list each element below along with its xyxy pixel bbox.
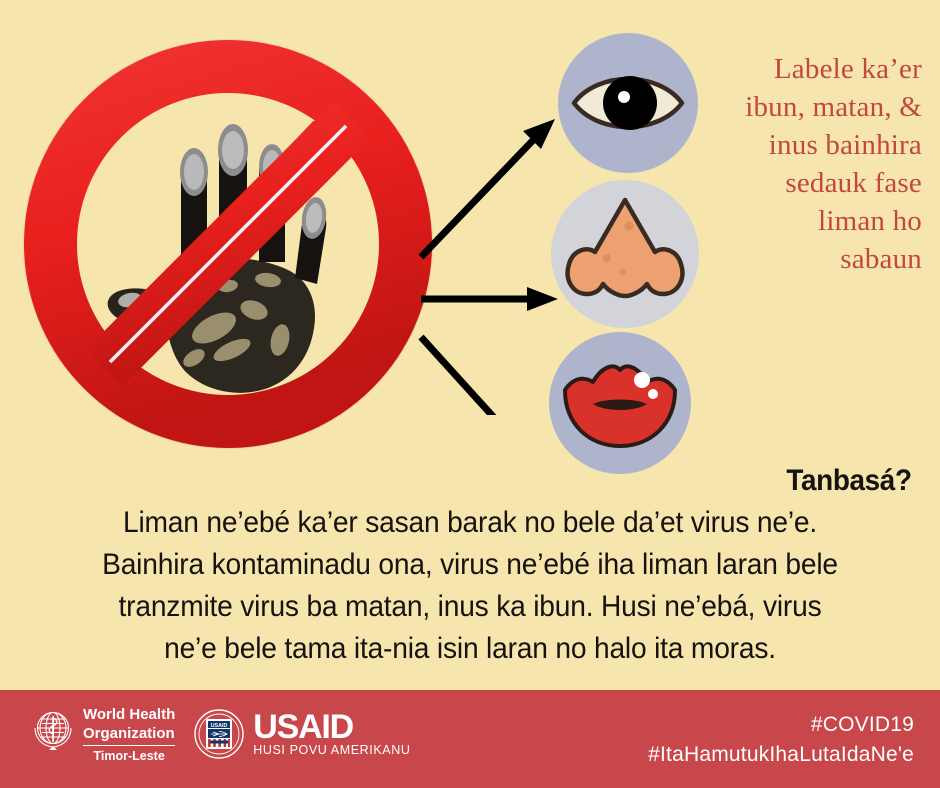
usaid-logo: USAID — [193, 708, 410, 760]
body-line-2: Bainhira kontaminadu ona, virus ne’ebé i… — [46, 544, 894, 586]
headline-text: Labele ka’er ibun, matan, & inus bainhir… — [654, 50, 922, 278]
headline-line-4: sedauk fase — [654, 164, 922, 202]
who-line-2: Organization — [83, 723, 175, 742]
logo-row: World Health Organization Timor-Leste US… — [30, 704, 411, 763]
who-line-1: World Health — [83, 704, 175, 723]
body-line-4: ne’e bele tama ita-nia isin laran no hal… — [46, 628, 894, 670]
headline-line-3: inus bainhira — [654, 126, 922, 164]
who-emblem-icon — [30, 704, 76, 756]
no-touching-sign — [18, 28, 438, 460]
hashtag-block: #COVID19 #ItaHamutukIhaLutaIdaNe'e — [648, 710, 914, 770]
arrow-to-eye — [421, 133, 540, 257]
svg-text:USAID: USAID — [211, 722, 228, 728]
hashtag-campaign: #ItaHamutukIhaLutaIdaNe'e — [648, 740, 914, 770]
headline-line-5: liman ho — [654, 202, 922, 240]
mouth-lips-icon — [549, 332, 691, 474]
why-heading: Tanbasá? — [787, 464, 912, 498]
poster-canvas: Labele ka’er ibun, matan, & inus bainhir… — [0, 0, 940, 788]
usaid-wordmark: USAID — [253, 711, 410, 743]
body-line-3: tranzmite virus ba matan, inus ka ibun. … — [46, 586, 894, 628]
mouth-icon-circle — [549, 332, 691, 474]
prohibition-sign-graphic — [18, 28, 438, 460]
hashtag-covid19: #COVID19 — [648, 710, 914, 740]
body-line-1: Liman ne’ebé ka’er sasan barak no bele d… — [46, 502, 894, 544]
headline-line-2: ibun, matan, & — [654, 88, 922, 126]
usaid-tagline: HUSI POVU AMERIKANU — [253, 743, 410, 757]
footer-bar: World Health Organization Timor-Leste US… — [0, 690, 940, 788]
arrow-to-mouth — [421, 337, 537, 415]
usaid-seal-icon: USAID — [193, 708, 245, 760]
headline-line-1: Labele ka’er — [654, 50, 922, 88]
headline-line-6: sabaun — [654, 240, 922, 278]
who-country: Timor-Leste — [83, 745, 175, 763]
body-paragraph: Liman ne’ebé ka’er sasan barak no bele d… — [46, 502, 894, 670]
who-logo: World Health Organization Timor-Leste — [30, 704, 175, 763]
